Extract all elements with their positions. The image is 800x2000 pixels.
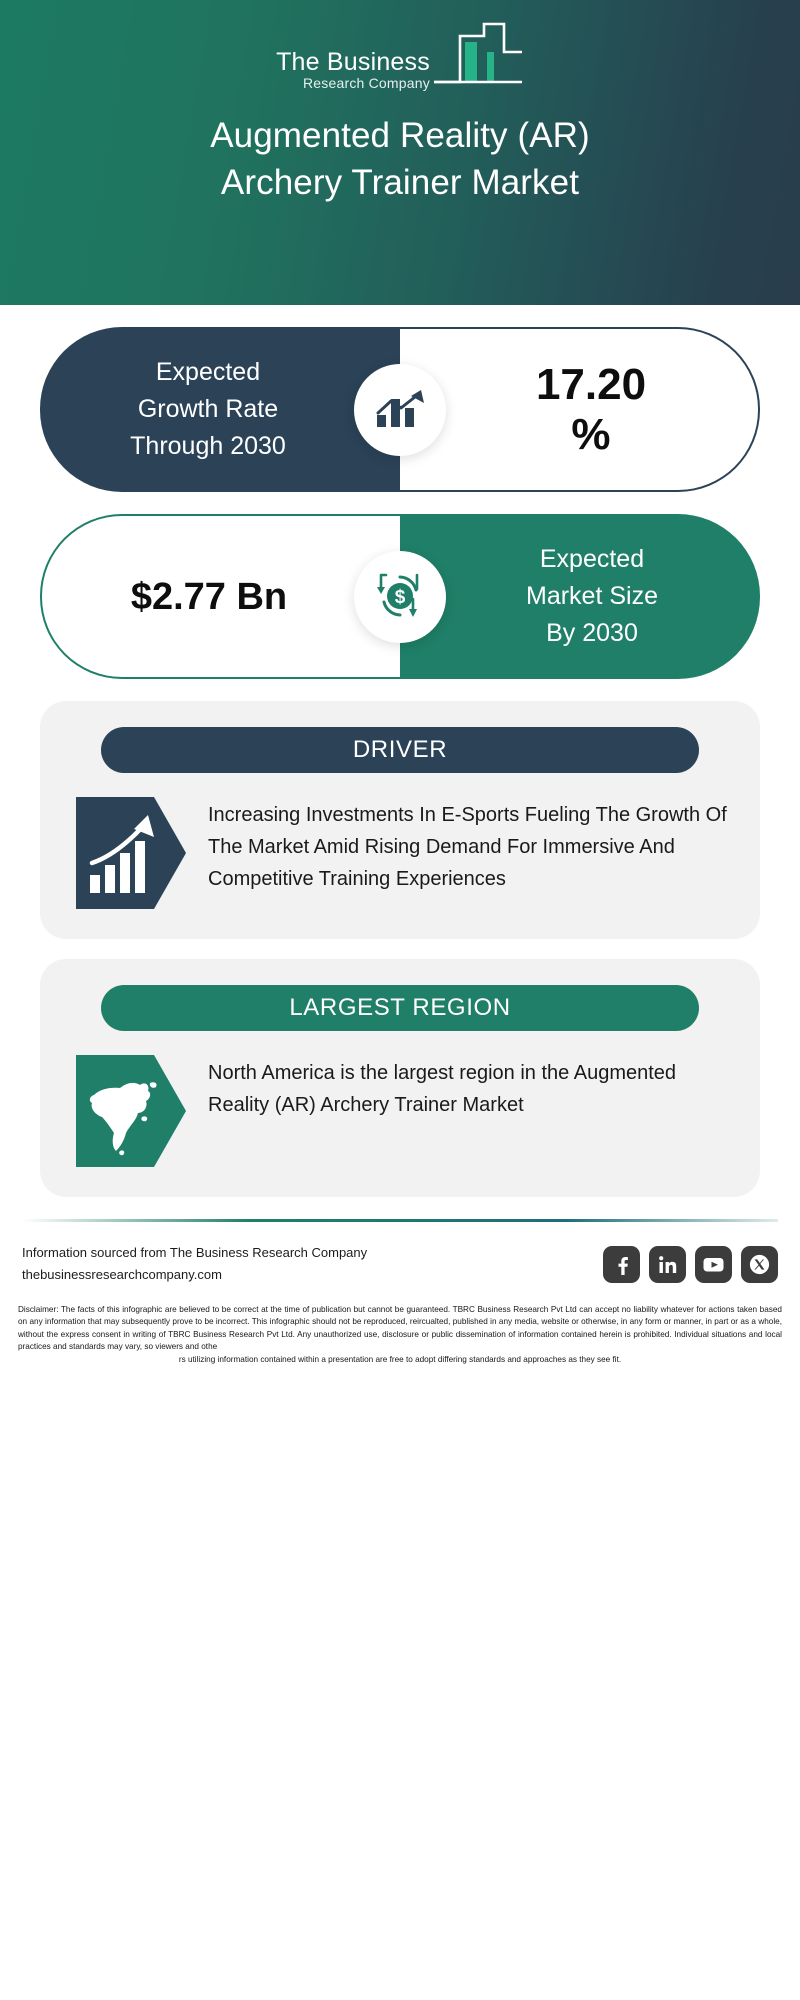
driver-description: Increasing Investments In E-Sports Fueli… bbox=[186, 797, 732, 895]
stat-label-line-1: Expected bbox=[540, 545, 644, 573]
stat-label-line-2: Growth Rate bbox=[138, 395, 278, 423]
x-twitter-icon[interactable] bbox=[741, 1246, 778, 1283]
stat-label-line-1: Expected bbox=[156, 358, 260, 386]
source-line-1: Information sourced from The Business Re… bbox=[22, 1242, 367, 1264]
page-title: Augmented Reality (AR) Archery Trainer M… bbox=[0, 112, 800, 206]
facebook-icon[interactable] bbox=[603, 1246, 640, 1283]
growth-chart-arrow-icon bbox=[374, 387, 426, 433]
title-line-2: Archery Trainer Market bbox=[221, 163, 579, 202]
stat-label-line-3: By 2030 bbox=[546, 619, 638, 647]
largest-region-heading-label: LARGEST REGION bbox=[289, 994, 510, 1022]
driver-heading-label: DRIVER bbox=[353, 736, 447, 764]
driver-panel: DRIVER Increasing Investments In E-Sport… bbox=[40, 701, 760, 939]
youtube-icon[interactable] bbox=[695, 1246, 732, 1283]
disclaimer-text: Disclaimer: The facts of this infographi… bbox=[0, 1292, 800, 1366]
stat-cards: Expected Growth Rate Through 2030 17.20 … bbox=[0, 305, 800, 679]
stat-card-market-size: $2.77 Bn Expected Market Size By 2030 $ bbox=[40, 514, 760, 679]
stat-badge-market-size: $ bbox=[354, 551, 446, 643]
stat-value-unit: % bbox=[571, 410, 610, 459]
bar-chart-growth-arrow-icon bbox=[76, 797, 186, 909]
north-america-map-icon bbox=[76, 1055, 186, 1167]
stat-label-line-3: Through 2030 bbox=[130, 432, 286, 460]
disclaimer-last-line: rs utilizing information contained withi… bbox=[18, 1354, 782, 1366]
largest-region-icon-container bbox=[76, 1055, 186, 1167]
disclaimer-body: Disclaimer: The facts of this infographi… bbox=[18, 1305, 782, 1351]
source-website[interactable]: thebusinessresearchcompany.com bbox=[22, 1264, 367, 1286]
header-banner: The Business Research Company Augmented … bbox=[0, 0, 800, 305]
footer-row: Information sourced from The Business Re… bbox=[0, 1222, 800, 1292]
logo-primary-text: The Business bbox=[276, 49, 430, 75]
logo-secondary-text: Research Company bbox=[276, 75, 430, 91]
driver-icon-container bbox=[76, 797, 186, 909]
title-line-1: Augmented Reality (AR) bbox=[210, 116, 590, 155]
infographic-page: The Business Research Company Augmented … bbox=[0, 0, 800, 2000]
largest-region-heading-pill: LARGEST REGION bbox=[101, 985, 699, 1031]
svg-text:$: $ bbox=[395, 587, 406, 608]
stat-label-line-2: Market Size bbox=[526, 582, 658, 610]
stat-card-growth-rate: Expected Growth Rate Through 2030 17.20 … bbox=[40, 327, 760, 492]
stat-badge-growth bbox=[354, 364, 446, 456]
stat-value: $2.77 Bn bbox=[131, 576, 287, 618]
stat-label-panel: Expected Market Size By 2030 bbox=[400, 514, 760, 679]
social-links bbox=[603, 1246, 778, 1283]
logo-bar-chart-icon bbox=[432, 22, 524, 93]
largest-region-description: North America is the largest region in t… bbox=[186, 1055, 732, 1121]
stat-value-panel: $2.77 Bn bbox=[40, 514, 400, 679]
largest-region-panel: LARGEST REGION North America is the larg… bbox=[40, 959, 760, 1197]
stat-value: 17.20 bbox=[536, 360, 646, 409]
driver-heading-pill: DRIVER bbox=[101, 727, 699, 773]
brand-logo: The Business Research Company bbox=[0, 22, 800, 93]
stat-value-panel: 17.20 % bbox=[400, 327, 760, 492]
source-attribution: Information sourced from The Business Re… bbox=[22, 1242, 367, 1286]
stat-label-panel: Expected Growth Rate Through 2030 bbox=[40, 327, 400, 492]
linkedin-icon[interactable] bbox=[649, 1246, 686, 1283]
dollar-cycle-icon: $ bbox=[373, 571, 427, 623]
